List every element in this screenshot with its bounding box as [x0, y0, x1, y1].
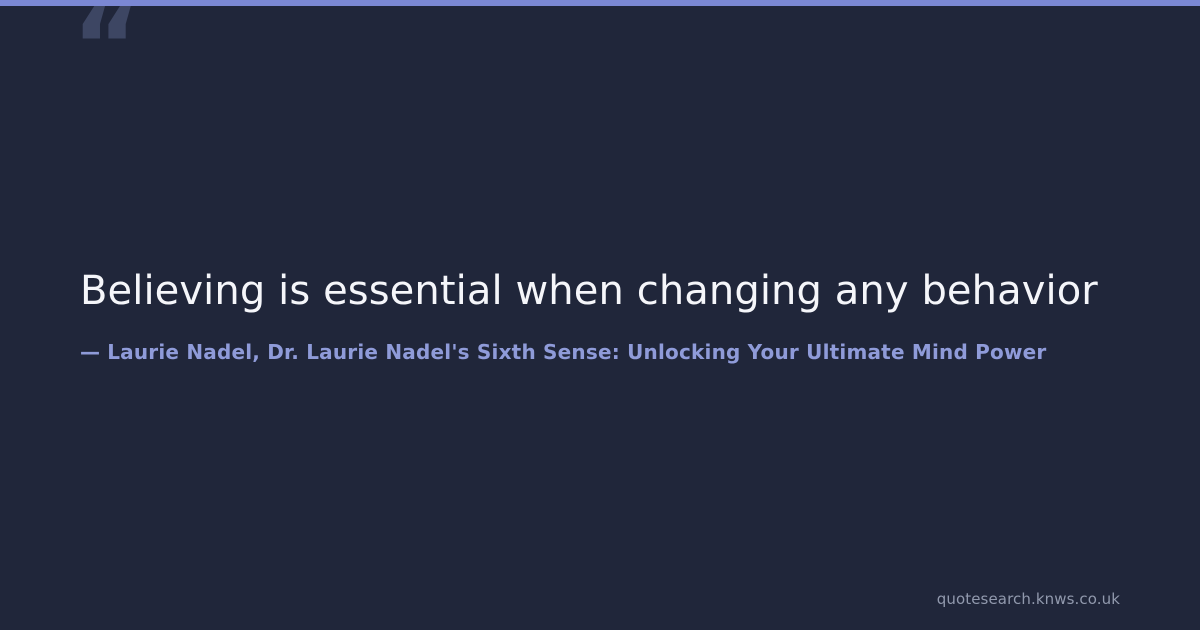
attribution-dash: —	[80, 340, 100, 364]
quote-attribution: —Laurie Nadel, Dr. Laurie Nadel's Sixth …	[80, 339, 1200, 365]
footer-source-url: quotesearch.knws.co.uk	[937, 590, 1120, 608]
quote-card: “ Believing is essential when changing a…	[0, 0, 1200, 630]
quote-content: Believing is essential when changing any…	[0, 0, 1200, 630]
attribution-text: Laurie Nadel, Dr. Laurie Nadel's Sixth S…	[107, 340, 1046, 364]
quote-text: Believing is essential when changing any…	[80, 265, 1200, 318]
